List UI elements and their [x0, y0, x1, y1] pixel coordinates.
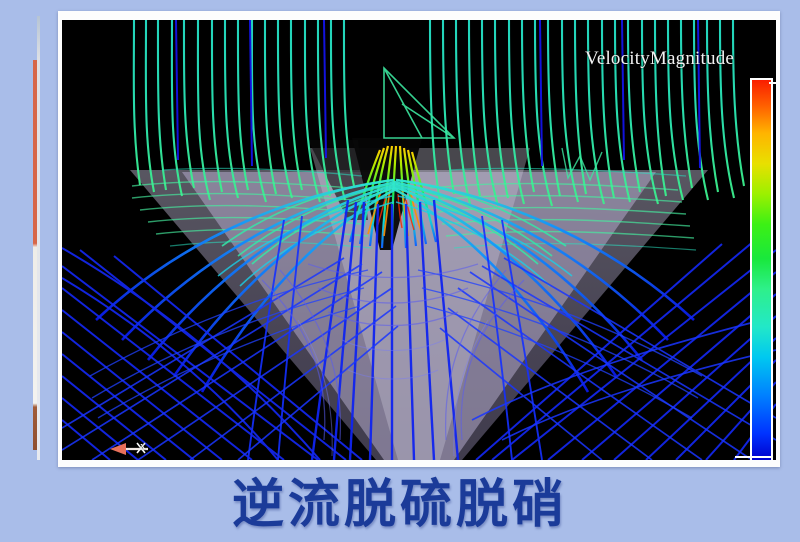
colorbar-min-tick	[735, 456, 771, 458]
axis-arrowhead	[110, 443, 126, 455]
left-edge-strip-light	[37, 16, 40, 460]
left-edge-strip-red	[33, 60, 37, 450]
colorbar-data-min-label: 0.00	[774, 458, 776, 460]
colorbar-title: VelocityMagnitude	[585, 48, 734, 70]
colorbar-max-tick	[769, 82, 776, 84]
axis-orientation-indicator: x	[108, 438, 154, 460]
slide-root: VelocityMagnitude 2.80 2.45 2.10 1.75 1.…	[0, 0, 800, 542]
axis-label-x: x	[140, 440, 146, 452]
page-title: 逆流脱硫脱硝	[0, 474, 800, 536]
colorbar-gradient[interactable]	[750, 78, 773, 460]
render-viewport[interactable]: VelocityMagnitude 2.80 2.45 2.10 1.75 1.…	[62, 20, 776, 460]
cfd-streamline-plot	[62, 20, 776, 460]
